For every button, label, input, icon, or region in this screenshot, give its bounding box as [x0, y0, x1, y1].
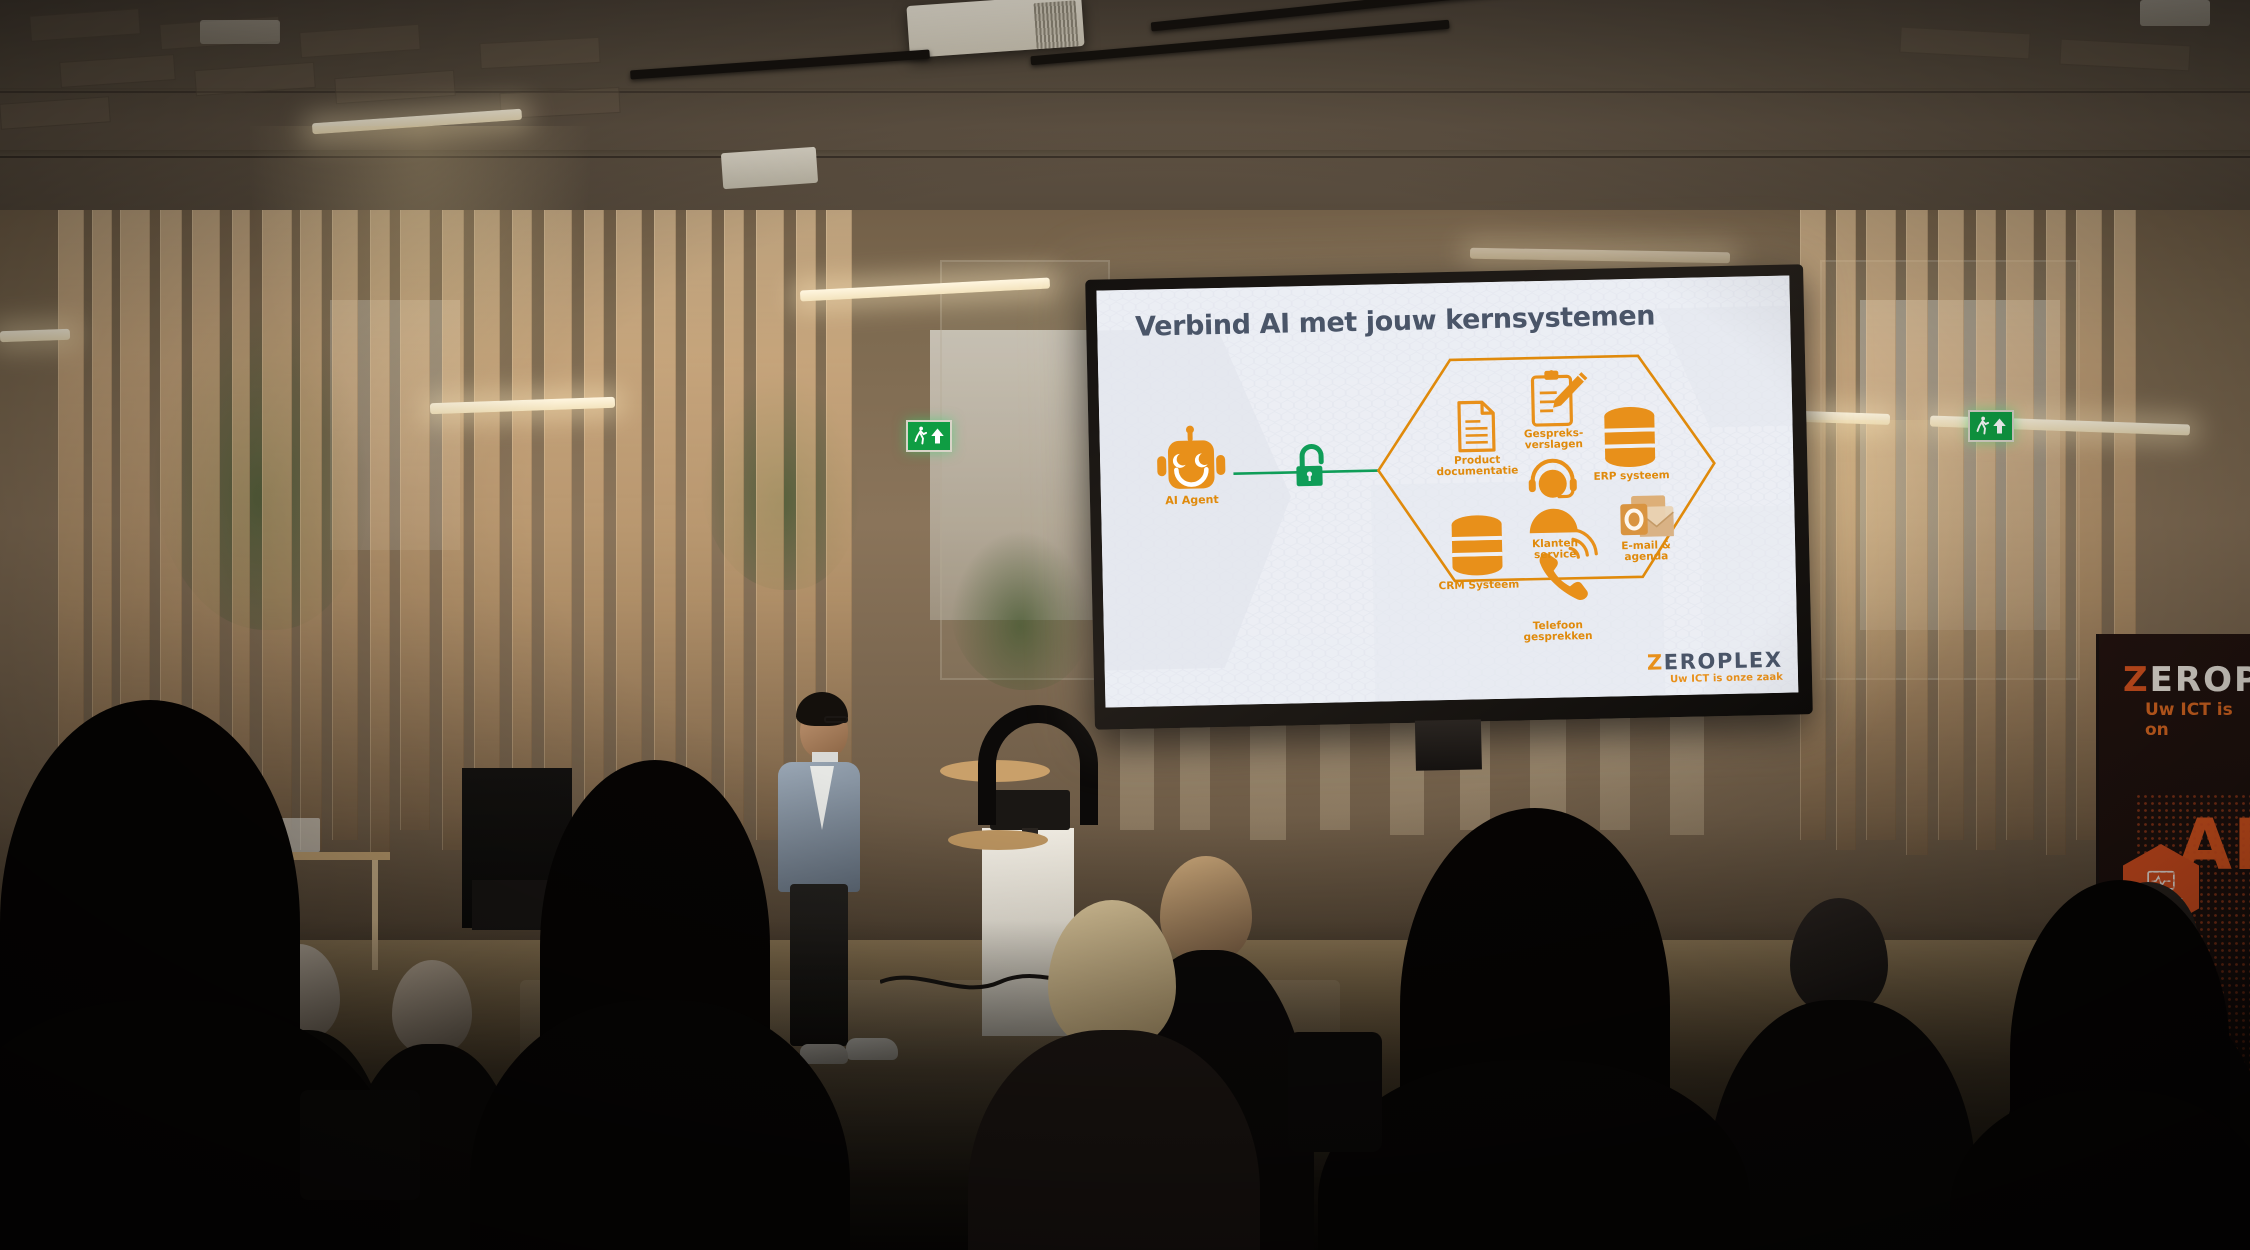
logo-rest-letters: EROPLEX [1664, 648, 1783, 675]
curtain-strip [756, 150, 784, 840]
curtain-strip [616, 150, 642, 840]
headset-person-icon [1528, 460, 1578, 533]
curtain-strip [2046, 150, 2066, 855]
slide-canvas: Verbind AI met jouw kernsystemen [1096, 276, 1798, 708]
presenter-trousers [790, 884, 848, 1046]
database-icon-crm [1451, 515, 1502, 576]
decor-arch [978, 705, 1098, 825]
label-klanten-service: Klanten service [1516, 538, 1594, 562]
curtain-strip [370, 150, 390, 860]
curtain-strip [262, 150, 292, 830]
curtain-strip [474, 150, 500, 840]
banner-logo-rest: EROP [2150, 660, 2250, 700]
label-erp-systeem: ERP systeem [1586, 470, 1676, 483]
presenter-glasses [824, 716, 848, 723]
emergency-exit-sign-left [906, 420, 952, 452]
curtain-strip [544, 150, 572, 840]
label-gespreksverslagen: Gespreks- verslagen [1508, 428, 1600, 453]
clipboard-pencil-icon [1532, 369, 1588, 425]
label-product-documentatie: Product documentatie [1428, 454, 1526, 479]
ceiling-fixture [200, 20, 280, 44]
curtain-strip [654, 150, 676, 855]
presentation-room-scene: Verbind AI met jouw kernsystemen [0, 0, 2250, 1250]
robot-icon [1156, 425, 1225, 489]
curtain-strip [2006, 150, 2034, 840]
curtain-strip [1836, 150, 1856, 850]
zeroplex-logo: ZEROPLEX Uw ICT is onze zaak [1647, 650, 1783, 686]
curtain-strip [724, 150, 744, 850]
ceiling-speaker [721, 147, 818, 190]
curtain-strip [512, 150, 532, 855]
banner-logo-z: Z [2123, 660, 2150, 700]
curtain-strip [1906, 150, 1928, 855]
curtain-strip [686, 150, 712, 840]
ceiling-fixture [2140, 0, 2210, 26]
curtain-strip [332, 150, 358, 840]
curtain-strip [584, 150, 604, 850]
database-icon-erp [1604, 407, 1655, 468]
label-ai-agent: AI Agent [1153, 494, 1231, 508]
open-padlock-icon [1296, 446, 1323, 486]
banner-tagline: Uw ICT is on [2145, 700, 2250, 740]
slide-diagram [1096, 276, 1798, 708]
wood-stool [948, 830, 1048, 850]
presentation-display[interactable]: Verbind AI met jouw kernsystemen [1085, 264, 1813, 730]
table-leg [372, 860, 378, 970]
curtain-strip [1866, 150, 1896, 840]
presenter-shoe [846, 1038, 898, 1060]
curtain-strip [300, 150, 322, 850]
banner-logo: ZEROP [2123, 660, 2250, 700]
label-telefoon-gesprekken: Telefoon gesprekken [1512, 620, 1604, 645]
curtain-strip [1976, 150, 1996, 850]
emergency-exit-sign-right [1968, 410, 2014, 442]
plant [950, 530, 1090, 690]
chair-back [1288, 1032, 1382, 1152]
document-icon [1459, 402, 1494, 451]
curtain-strip [1938, 150, 1964, 840]
curtain-strip [442, 150, 464, 850]
presenter-shoe [800, 1044, 848, 1064]
curtain-strip [400, 150, 430, 830]
display-screen: Verbind AI met jouw kernsystemen [1096, 276, 1798, 708]
label-crm-systeem: CRM Systeem [1431, 579, 1527, 592]
display-stand [1415, 719, 1482, 770]
label-email-agenda: E-mail & agenda [1607, 540, 1685, 564]
outlook-icon [1620, 495, 1674, 537]
logo-z-letter: Z [1647, 650, 1664, 674]
chair-back [300, 1090, 420, 1200]
